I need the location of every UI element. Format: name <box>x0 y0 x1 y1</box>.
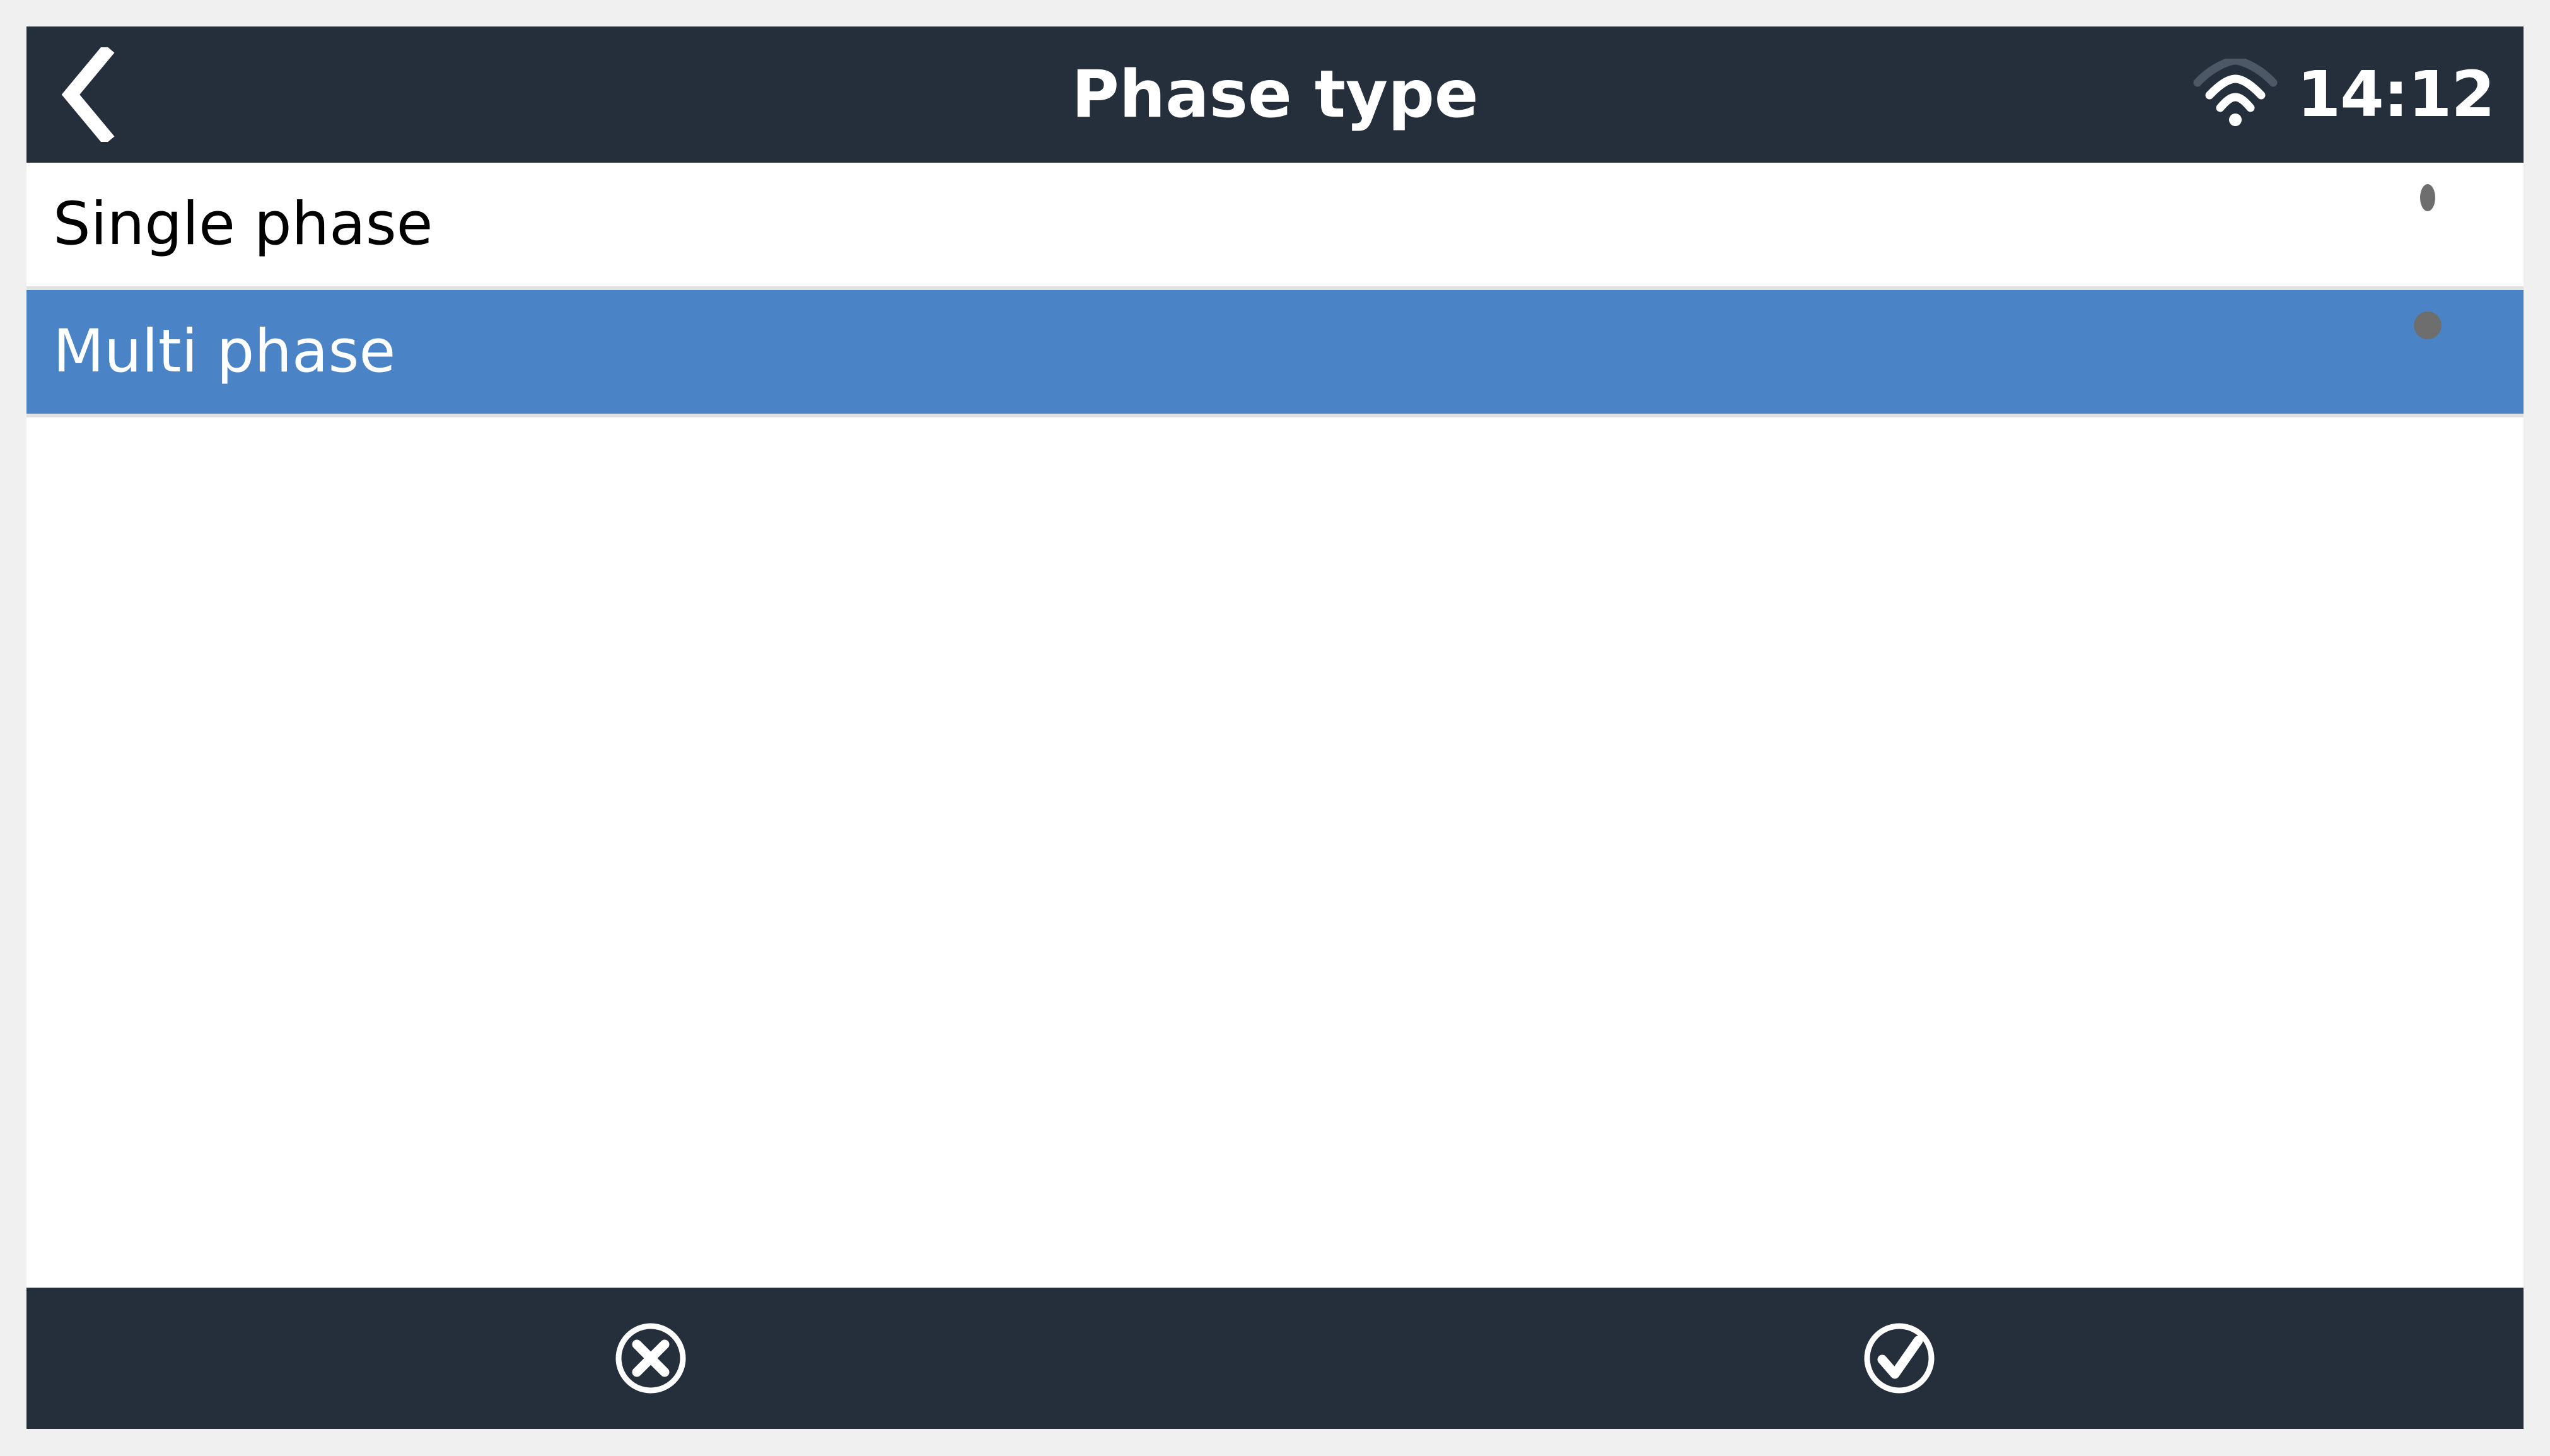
device-frame: Phase type 14:12 Single phase <box>0 0 2550 1456</box>
list-item[interactable]: Single phase <box>26 163 2524 290</box>
option-list: Single phase Multi phase <box>26 163 2524 1283</box>
screen: Phase type 14:12 Single phase <box>26 26 2524 1429</box>
header-bar: Phase type 14:12 <box>26 26 2524 163</box>
page-title: Phase type <box>26 26 2524 163</box>
status-clock: 14:12 <box>2297 63 2495 126</box>
radio-unchecked-icon[interactable] <box>2420 192 2486 257</box>
circle-check-icon <box>1861 1320 1937 1396</box>
radio-checked-icon[interactable] <box>2420 319 2486 385</box>
confirm-button[interactable] <box>1275 1288 2524 1429</box>
wifi-icon <box>2192 59 2278 131</box>
option-label: Multi phase <box>53 322 395 381</box>
list-item[interactable]: Multi phase <box>26 290 2524 417</box>
action-bar <box>26 1288 2524 1429</box>
cancel-button[interactable] <box>26 1288 1275 1429</box>
status-cluster: 14:12 <box>2192 26 2495 163</box>
circle-x-icon <box>613 1320 689 1396</box>
option-label: Single phase <box>53 195 433 254</box>
